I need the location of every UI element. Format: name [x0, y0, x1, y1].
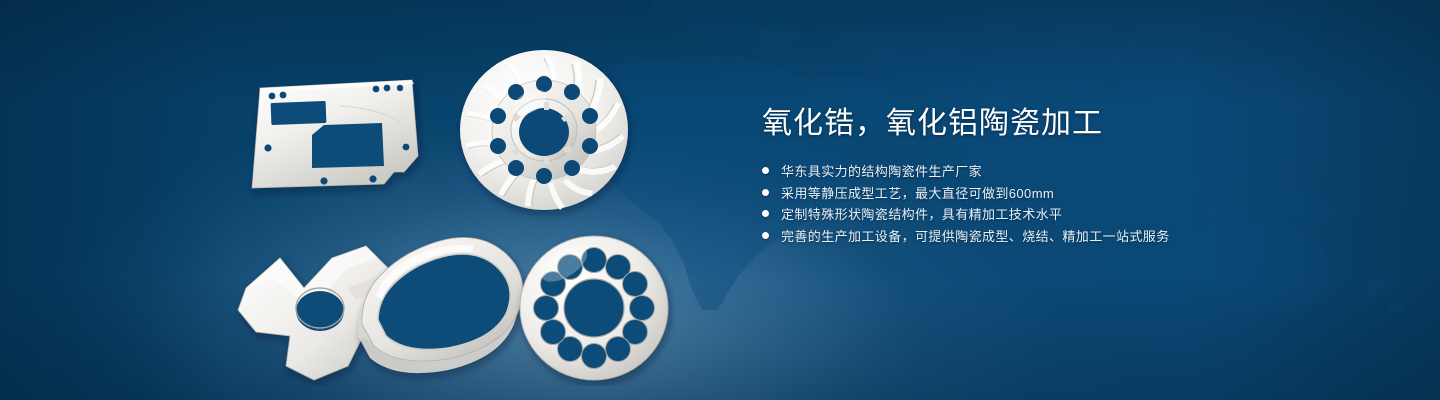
list-item-label: 定制特殊形状陶瓷结构件，具有精加工技术水平 — [781, 204, 1062, 223]
ceramic-plate — [252, 80, 418, 188]
bullet-dot-icon — [762, 189, 769, 196]
list-item-label: 华东具实力的结构陶瓷件生产厂家 — [781, 161, 982, 180]
list-item: 采用等静压成型工艺，最大直径可做到600mm — [762, 182, 1382, 204]
banner-copy: 氧化锆，氧化铝陶瓷加工 华东具实力的结构陶瓷件生产厂家 采用等静压成型工艺，最大… — [762, 102, 1382, 246]
list-item-label: 完善的生产加工设备，可提供陶瓷成型、烧结、精加工一站式服务 — [781, 226, 1170, 245]
ceramic-ring — [358, 237, 523, 373]
list-item: 完善的生产加工设备，可提供陶瓷成型、烧结、精加工一站式服务 — [762, 225, 1382, 247]
list-item: 定制特殊形状陶瓷结构件，具有精加工技术水平 — [762, 203, 1382, 225]
list-item: 华东具实力的结构陶瓷件生产厂家 — [762, 160, 1382, 182]
ceramic-impeller — [460, 48, 628, 210]
page-title: 氧化锆，氧化铝陶瓷加工 — [762, 102, 1382, 146]
bullet-dot-icon — [762, 167, 769, 174]
bullet-dot-icon — [762, 232, 769, 239]
list-item-label: 采用等静压成型工艺，最大直径可做到600mm — [781, 183, 1054, 202]
product-photo-group — [228, 36, 698, 386]
feature-list: 华东具实力的结构陶瓷件生产厂家 采用等静压成型工艺，最大直径可做到600mm 定… — [762, 160, 1382, 246]
bullet-dot-icon — [762, 210, 769, 217]
ceramic-perforated-disc — [520, 236, 668, 380]
hero-banner: 氧化锆，氧化铝陶瓷加工 华东具实力的结构陶瓷件生产厂家 采用等静压成型工艺，最大… — [0, 0, 1440, 400]
